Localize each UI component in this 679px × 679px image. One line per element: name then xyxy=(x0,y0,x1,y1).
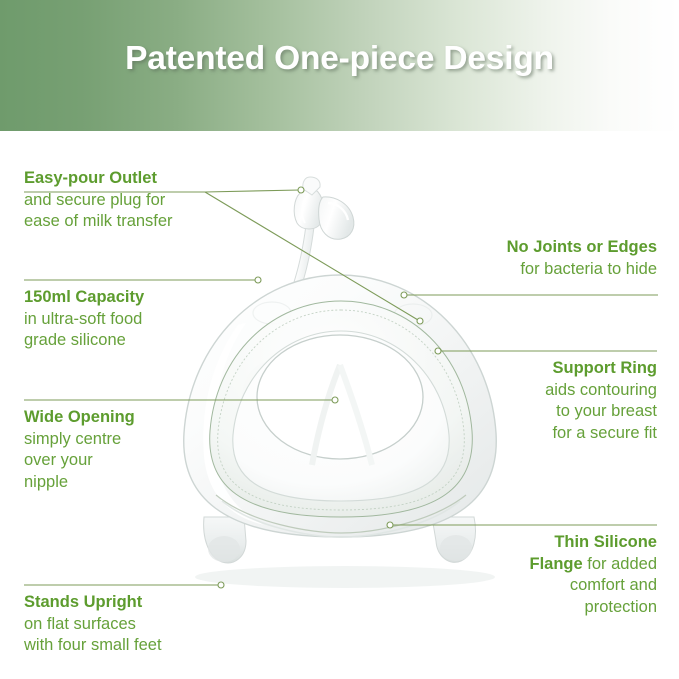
callout-stands-upright-line2: on flat surfaces xyxy=(24,614,162,636)
callout-stands-upright-heading: Stands Upright xyxy=(24,592,162,614)
page-title: Patented One-piece Design xyxy=(0,40,679,78)
callout-easy-pour-line3: ease of milk transfer xyxy=(24,211,173,233)
callout-stands-upright: Stands Upright on flat surfaces with fou… xyxy=(24,592,162,657)
product-image xyxy=(160,165,520,595)
callout-no-joints-heading: No Joints or Edges xyxy=(507,237,657,259)
callout-easy-pour-outlet: Easy-pour Outlet and secure plug for eas… xyxy=(24,168,173,233)
callout-wide-opening-line3: over your xyxy=(24,450,135,472)
callout-support-ring-line2: aids contouring xyxy=(545,380,657,402)
callout-capacity-line2: in ultra-soft food xyxy=(24,309,144,331)
callout-thin-flange-line4: protection xyxy=(530,597,658,619)
callout-easy-pour-heading: Easy-pour Outlet xyxy=(24,168,173,190)
callout-wide-opening-line2: simply centre xyxy=(24,429,135,451)
callout-capacity: 150ml Capacity in ultra-soft food grade … xyxy=(24,287,144,352)
callout-thin-flange-line2: Flange for added xyxy=(530,554,658,576)
callout-thin-flange: Thin Silicone Flange for added comfort a… xyxy=(530,532,658,618)
callout-stands-upright-line3: with four small feet xyxy=(24,635,162,657)
callout-capacity-line3: grade silicone xyxy=(24,330,144,352)
callout-support-ring-line4: for a secure fit xyxy=(545,423,657,445)
product-feature-infographic: Patented One-piece Design xyxy=(0,0,679,679)
callout-no-joints-line2: for bacteria to hide xyxy=(507,259,657,281)
callout-support-ring-line3: to your breast xyxy=(545,401,657,423)
callout-support-ring-heading: Support Ring xyxy=(545,358,657,380)
callout-thin-flange-heading2: Flange xyxy=(530,555,583,573)
callout-thin-flange-line3: comfort and xyxy=(530,575,658,597)
callout-no-joints: No Joints or Edges for bacteria to hide xyxy=(507,237,657,280)
callout-support-ring: Support Ring aids contouring to your bre… xyxy=(545,358,657,444)
callout-wide-opening-heading: Wide Opening xyxy=(24,407,135,429)
callout-thin-flange-line2-tail: for added xyxy=(583,555,657,573)
callout-easy-pour-line2: and secure plug for xyxy=(24,190,173,212)
callout-wide-opening: Wide Opening simply centre over your nip… xyxy=(24,407,135,493)
callout-thin-flange-heading: Thin Silicone xyxy=(530,532,658,554)
callout-capacity-heading: 150ml Capacity xyxy=(24,287,144,309)
callout-wide-opening-line4: nipple xyxy=(24,472,135,494)
